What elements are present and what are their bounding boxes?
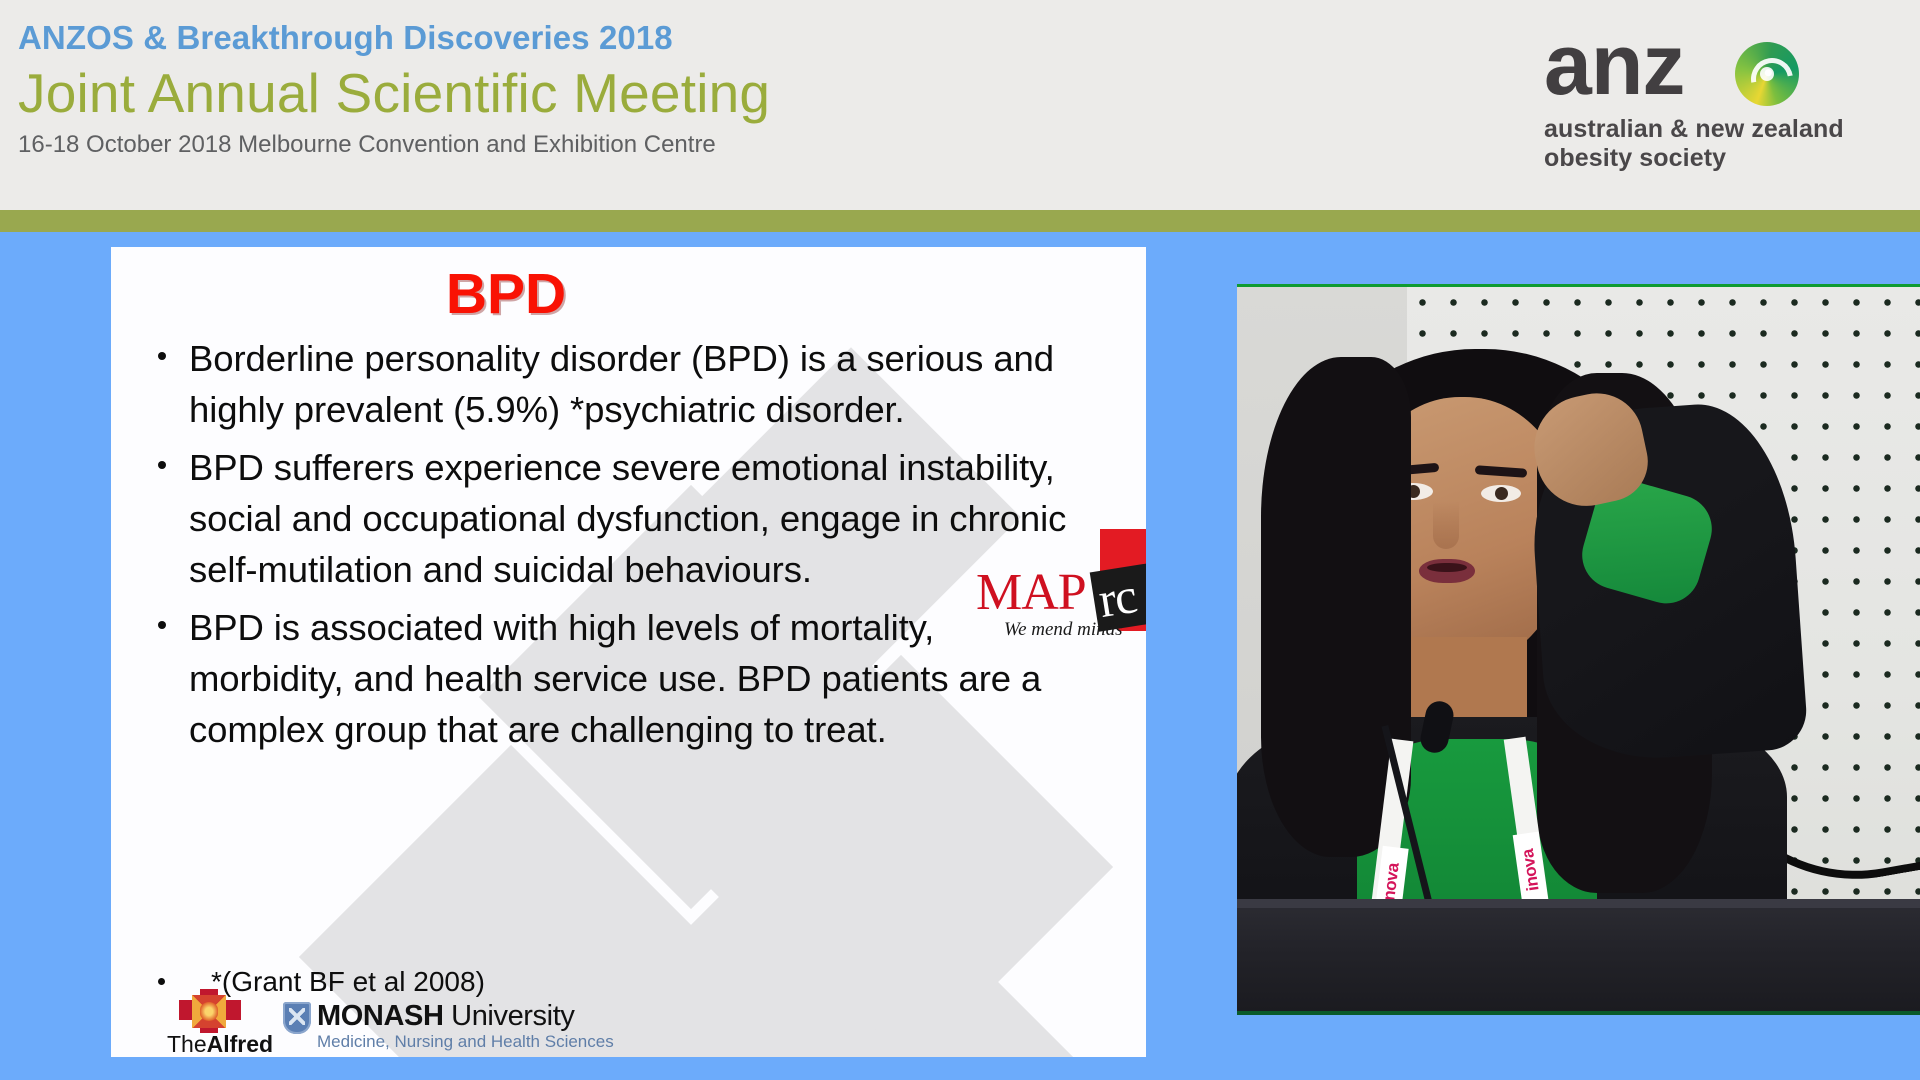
monash-faculty: Medicine, Nursing and Health Sciences <box>317 1032 614 1052</box>
bullet-dot-icon <box>158 978 165 985</box>
speaker-nose <box>1433 501 1459 549</box>
anzos-tagline: australian & new zealand obesity society <box>1544 115 1894 173</box>
anzos-wordmark-prefix: anz <box>1544 17 1684 113</box>
bullet-dot-icon <box>158 352 166 360</box>
monash-university-logo: MONASH University Medicine, Nursing and … <box>283 999 613 1053</box>
slide-bullet-list: Borderline personality disorder (BPD) is… <box>111 333 1146 762</box>
lectern-top-edge <box>1237 899 1920 908</box>
lanyard-logo-text: inova <box>1518 840 1544 900</box>
anzos-tagline-line1: australian & new zealand <box>1544 115 1894 144</box>
monash-wordmark: MONASH University <box>317 999 574 1033</box>
banner-text-block: ANZOS & Breakthrough Discoveries 2018 Jo… <box>18 18 770 160</box>
bottom-background-strip <box>0 1058 1920 1080</box>
bullet-text: BPD sufferers experience severe emotiona… <box>189 442 1089 595</box>
alfred-bold: Alfred <box>207 1031 273 1057</box>
koru-spiral-icon <box>1735 42 1799 106</box>
bullet-text: Borderline personality disorder (BPD) is… <box>189 333 1089 435</box>
alfred-core-shape <box>192 995 226 1028</box>
bullet-text: BPD is associated with high levels of mo… <box>189 602 1089 755</box>
presentation-slide: BPD MAP rc We mend minds Borderline pers… <box>111 247 1146 1057</box>
video-stage: inova inova inova inova <box>1237 287 1920 1011</box>
venue-and-dates: 16-18 October 2018 Melbourne Convention … <box>18 130 770 160</box>
monash-bold: MONASH <box>317 1000 444 1032</box>
meeting-title: Joint Annual Scientific Meeting <box>18 60 770 126</box>
speaker-video-panel[interactable]: inova inova inova inova <box>1237 284 1920 1015</box>
olive-divider-rule <box>0 210 1920 232</box>
slide-title: BPD <box>111 263 901 325</box>
list-item: BPD sufferers experience severe emotiona… <box>111 442 1146 595</box>
list-item: BPD is associated with high levels of mo… <box>111 602 1146 755</box>
anzos-logo: anzos australian & new zealand obesity s… <box>1544 22 1894 172</box>
bullet-dot-icon <box>158 461 166 469</box>
anzos-tagline-line2: obesity society <box>1544 144 1894 173</box>
event-title: ANZOS & Breakthrough Discoveries 2018 <box>18 18 770 58</box>
the-alfred-logo: TheAlfred <box>167 989 267 1051</box>
monash-plain: University <box>444 1000 575 1032</box>
alfred-wordmark: TheAlfred <box>167 1031 273 1057</box>
conference-banner: ANZOS & Breakthrough Discoveries 2018 Jo… <box>0 0 1920 210</box>
monash-shield-icon <box>283 1002 311 1034</box>
list-item: Borderline personality disorder (BPD) is… <box>111 333 1146 435</box>
speaker-mouth <box>1419 559 1475 583</box>
alfred-prefix: The <box>167 1031 207 1057</box>
lectern <box>1237 899 1920 1011</box>
bullet-dot-icon <box>158 621 166 629</box>
anzos-wordmark: anzos <box>1544 22 1894 108</box>
speaker-eye-right <box>1481 485 1521 502</box>
alfred-cross-icon <box>179 989 241 1033</box>
